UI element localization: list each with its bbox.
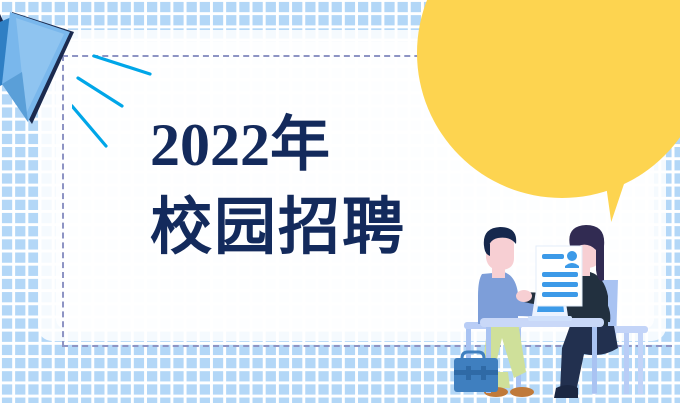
speech-bubble-tail (605, 174, 643, 222)
resume-document (536, 246, 582, 306)
job-interview-scene (452, 222, 680, 403)
headline-line-1: 2022年 (150, 115, 410, 175)
headline-line-2: 校园招聘 (150, 197, 410, 259)
campus-recruitment-banner: 2022年 校园招聘 (0, 0, 680, 403)
briefcase (454, 352, 498, 392)
page-title: 2022年 校园招聘 (150, 115, 410, 259)
